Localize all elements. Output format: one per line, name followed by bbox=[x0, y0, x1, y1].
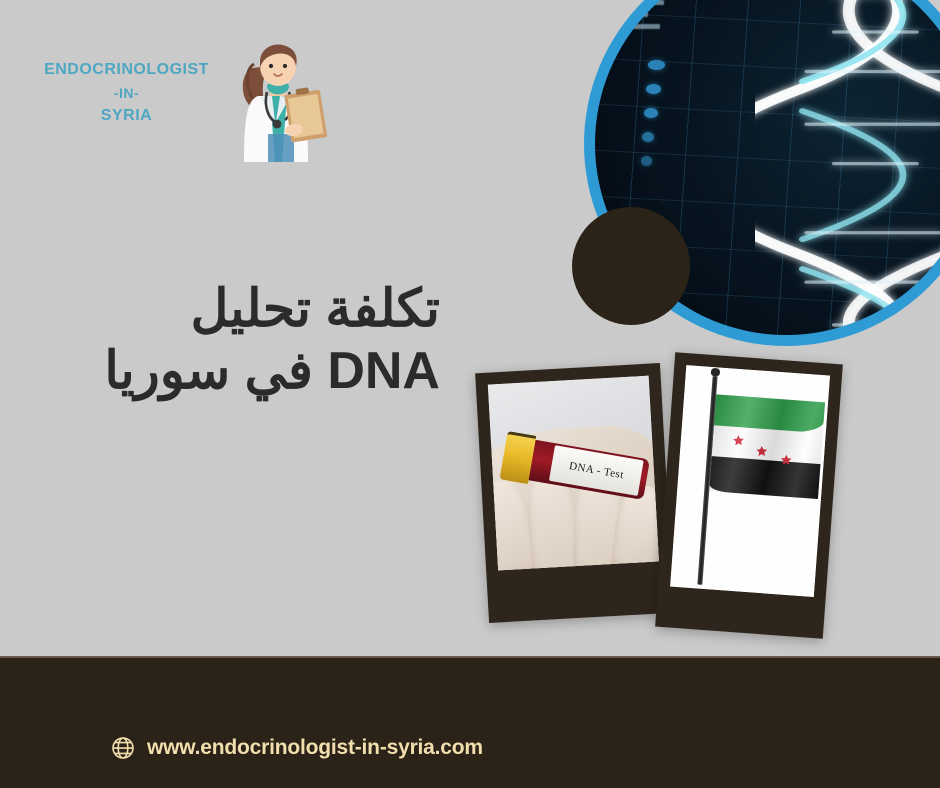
title-line-2: DNA في سوريا bbox=[104, 340, 440, 402]
dna-data-bars bbox=[626, 0, 670, 36]
flag-star bbox=[779, 454, 792, 467]
footer-panel bbox=[0, 658, 940, 788]
photo-frame-inner: DNA - Test bbox=[488, 376, 659, 571]
brand-logo[interactable]: ENDOCRINOLOGIST -IN- SYRIA bbox=[34, 42, 324, 162]
flag-band-black bbox=[709, 456, 821, 499]
photo-card-dna-test[interactable]: DNA - Test bbox=[475, 363, 674, 623]
logo-line-3: SYRIA bbox=[34, 104, 219, 129]
tube-label-text: DNA - Test bbox=[568, 460, 625, 481]
dna-double-helix-icon bbox=[755, 0, 940, 335]
syrian-flag-photo bbox=[670, 365, 830, 597]
title-line-1: تكلفة تحليل bbox=[104, 278, 440, 340]
brand-logo-text: ENDOCRINOLOGIST -IN- SYRIA bbox=[34, 58, 219, 129]
photo-card-syrian-flag[interactable] bbox=[655, 352, 843, 639]
flag-star bbox=[756, 445, 769, 458]
globe-icon bbox=[110, 735, 136, 761]
dna-indicator-dots bbox=[648, 60, 665, 180]
dna-test-tube-photo: DNA - Test bbox=[488, 376, 659, 571]
logo-line-2: -IN- bbox=[34, 83, 219, 105]
photo-frame-inner bbox=[670, 365, 830, 597]
dark-accent-circle bbox=[572, 207, 690, 325]
footer-url-text: www.endocrinologist-in-syria.com bbox=[147, 736, 483, 760]
flag-star bbox=[732, 434, 745, 447]
syrian-flag bbox=[709, 394, 825, 499]
footer-website-link[interactable]: www.endocrinologist-in-syria.com bbox=[110, 735, 483, 761]
logo-line-1: ENDOCRINOLOGIST bbox=[34, 58, 219, 83]
page-title: تكلفة تحليل DNA في سوريا bbox=[104, 278, 440, 403]
female-doctor-icon bbox=[230, 34, 330, 162]
poster-canvas: ENDOCRINOLOGIST -IN- SYRIA bbox=[0, 0, 940, 788]
